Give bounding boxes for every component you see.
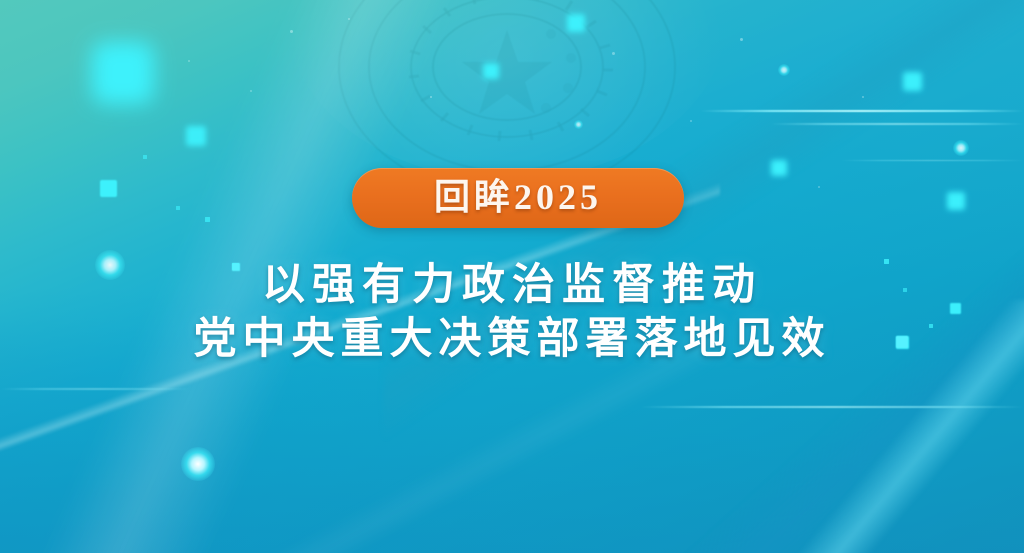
banner-root: 回眸2025 以强有力政治监督推动 党中央重大决策部署落地见效: [0, 0, 1024, 553]
national-emblem-watermark: [332, 0, 682, 182]
headline-accent-square: [896, 336, 908, 348]
headline-line-2: 党中央重大决策部署落地见效: [0, 312, 1024, 366]
year-badge-label: 回眸2025: [434, 179, 602, 217]
headline-block: 以强有力政治监督推动 党中央重大决策部署落地见效: [0, 258, 1024, 366]
headline-line-1: 以强有力政治监督推动: [0, 258, 1024, 312]
headline-accent-square: [232, 263, 240, 271]
year-badge: 回眸2025: [352, 168, 684, 228]
